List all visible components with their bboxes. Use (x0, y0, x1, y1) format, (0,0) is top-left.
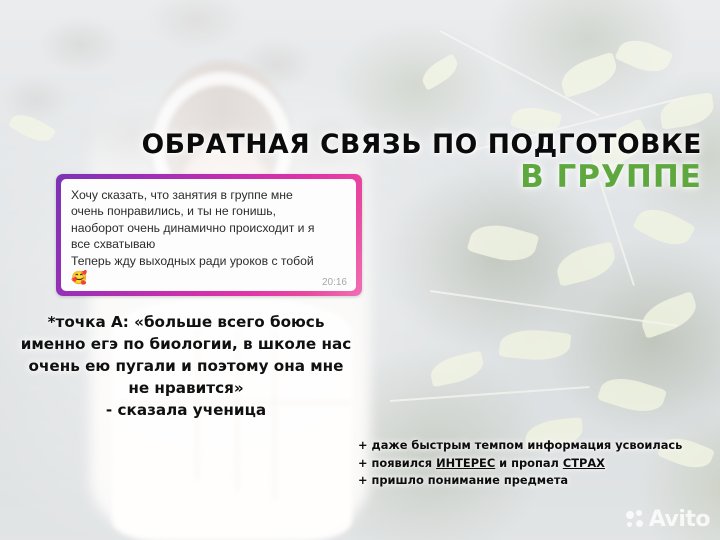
quote-attribution: - сказала ученица (8, 399, 364, 421)
list-item-emphasis: ИНТЕРЕС (436, 456, 495, 470)
list-item-label: пришло понимание предмета (372, 473, 569, 487)
list-item-emphasis: СТРАХ (563, 456, 605, 470)
slide-canvas: ОБРАТНАЯ СВЯЗЬ ПО ПОДГОТОВКЕ В ГРУППЕ Хо… (0, 0, 720, 540)
list-item-label: появился (372, 456, 437, 470)
benefits-list: + даже быстрым темпом информация усвоила… (358, 437, 708, 490)
chat-message-line: Хочу сказать, что занятия в группе мне (71, 187, 346, 203)
avito-watermark: Avito (626, 507, 710, 532)
chat-message-line: наоборот очень динамично происходит и я (71, 220, 346, 236)
avito-dots-icon (626, 510, 646, 530)
bullet-marker: + (358, 438, 372, 452)
chat-message-line: Теперь жду выходных ради уроков с тобой (71, 253, 346, 269)
chat-message-line: все схватываю (71, 236, 346, 252)
avito-wordmark: Avito (649, 507, 710, 532)
student-quote: *точка А: «больше всего боюсь именно егэ… (8, 311, 364, 421)
smiling-face-with-hearts-icon: 🥰 (71, 270, 346, 285)
list-item: + появился ИНТЕРЕС и пропал СТРАХ (358, 455, 708, 473)
list-item: + пришло понимание предмета (358, 472, 708, 490)
chat-message-line: очень понравились, и ты не гонишь, (71, 203, 346, 219)
list-item: + даже быстрым темпом информация усвоила… (358, 437, 708, 455)
heading-primary: ОБРАТНАЯ СВЯЗЬ ПО ПОДГОТОВКЕ (0, 131, 702, 159)
quote-line: не нравится» (8, 377, 364, 399)
quote-line: именно егэ по биологии, в школе нас (8, 333, 364, 355)
bullet-marker: + (358, 456, 372, 470)
quote-line: *точка А: «больше всего боюсь (8, 311, 364, 333)
chat-message-bubble: Хочу сказать, что занятия в группе мне о… (61, 179, 356, 291)
quote-line: очень ею пугали и поэтому она мне (8, 355, 364, 377)
list-item-label: даже быстрым темпом информация усвоилась (372, 438, 683, 452)
chat-message-timestamp: 20:16 (322, 277, 347, 288)
bullet-marker: + (358, 473, 372, 487)
chat-screenshot-frame: Хочу сказать, что занятия в группе мне о… (56, 174, 362, 296)
list-item-label: и пропал (495, 456, 563, 470)
